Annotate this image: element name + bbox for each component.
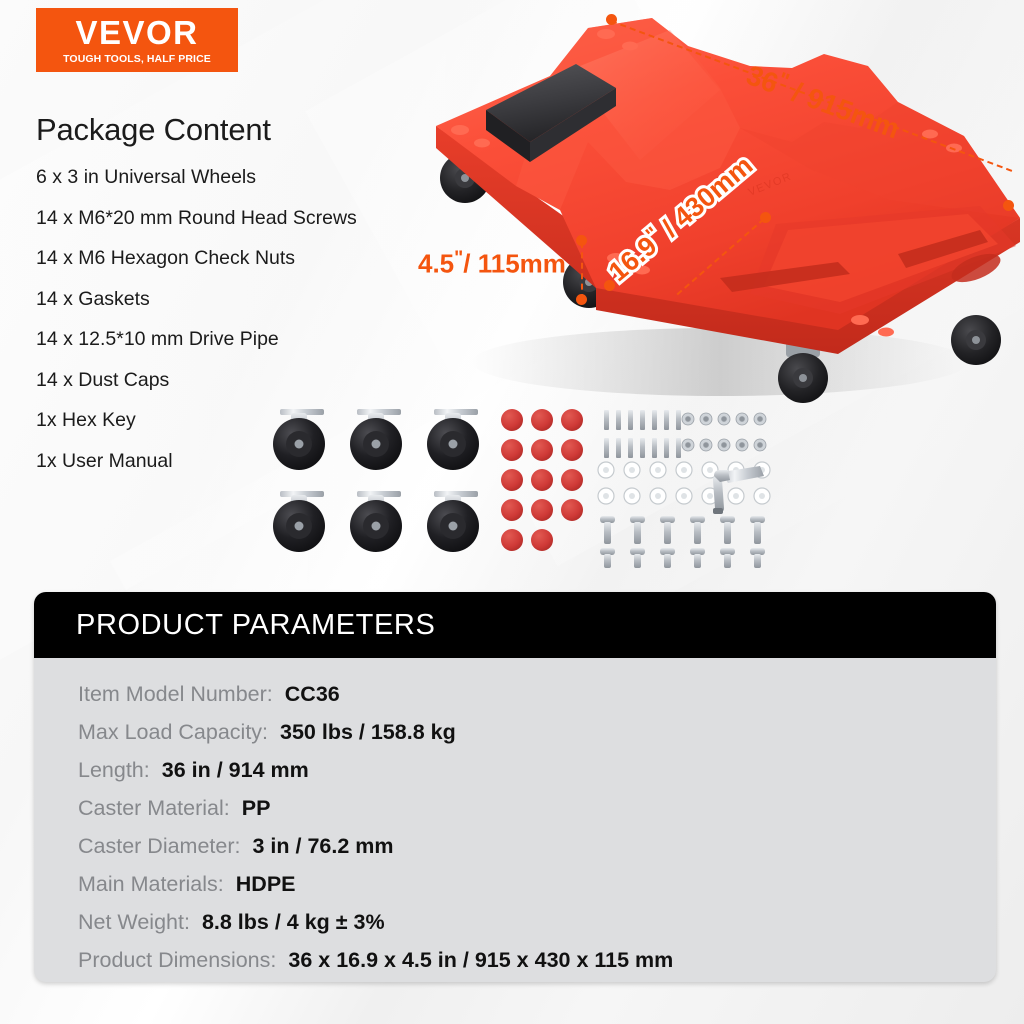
brand-tagline: TOUGH TOOLS, HALF PRICE (63, 54, 211, 65)
dim-length-start-dot (606, 14, 617, 25)
param-label: Caster Material: (78, 798, 230, 820)
list-item: 14 x M6*20 mm Round Head Screws (36, 209, 456, 229)
list-item: 14 x 12.5*10 mm Drive Pipe (36, 330, 456, 350)
param-label: Product Dimensions: (78, 950, 276, 972)
table-row: Caster Diameter: 3 in / 76.2 mm (78, 836, 996, 858)
table-row: Product Dimensions: 36 x 16.9 x 4.5 in /… (78, 950, 996, 972)
dim-height-label: 4.5"/ 115mm (418, 249, 566, 277)
table-row: Max Load Capacity: 350 lbs / 158.8 kg (78, 722, 996, 744)
dim-width-end-dot (604, 280, 615, 291)
dim-height-bottom-dot (576, 294, 587, 305)
list-item: 1x User Manual (36, 452, 456, 472)
table-row: Main Materials: HDPE (78, 874, 996, 896)
brand-wordmark: VEVOR (75, 16, 198, 49)
table-row: Caster Material: PP (78, 798, 996, 820)
param-value: 36 in / 914 mm (162, 760, 309, 782)
dim-width-start-dot (760, 212, 771, 223)
caster-item (273, 491, 325, 552)
param-label: Caster Diameter: (78, 836, 241, 858)
list-item: 6 x 3 in Universal Wheels (36, 168, 456, 188)
list-item: 14 x Gaskets (36, 290, 456, 310)
list-item: 1x Hex Key (36, 411, 456, 431)
dim-height-line (581, 242, 583, 300)
param-value: 3 in / 76.2 mm (253, 836, 394, 858)
param-label: Net Weight: (78, 912, 190, 934)
table-row: Length: 36 in / 914 mm (78, 760, 996, 782)
param-label: Max Load Capacity: (78, 722, 268, 744)
package-content-heading: Package Content (36, 112, 456, 148)
parameters-body: Item Model Number: CC36 Max Load Capacit… (34, 658, 996, 972)
product-photo: VEVOR (420, 10, 1024, 430)
package-content-section: Package Content 6 x 3 in Universal Wheel… (36, 112, 456, 492)
param-value: HDPE (236, 874, 296, 896)
vevor-logo: VEVOR TOUGH TOOLS, HALF PRICE (36, 8, 238, 72)
dim-height-top-dot (576, 235, 587, 246)
product-parameters-panel: PRODUCT PARAMETERS Item Model Number: CC… (34, 592, 996, 982)
table-row: Net Weight: 8.8 lbs / 4 kg ± 3% (78, 912, 996, 934)
infographic-page: VEVOR TOUGH TOOLS, HALF PRICE Package Co… (0, 0, 1024, 1024)
creeper-illustration: VEVOR (420, 10, 1024, 430)
param-label: Item Model Number: (78, 684, 273, 706)
screw-set (570, 516, 765, 568)
param-value: PP (242, 798, 271, 820)
param-value: 350 lbs / 158.8 kg (280, 722, 456, 744)
param-label: Main Materials: (78, 874, 224, 896)
drive-pipe-set (604, 410, 681, 458)
page-title: PRODUCT PARAMETERS (76, 609, 435, 642)
list-item: 14 x M6 Hexagon Check Nuts (36, 249, 456, 269)
param-value: 8.8 lbs / 4 kg ± 3% (202, 912, 385, 934)
dim-length-end-dot (1003, 200, 1014, 211)
caster-item (350, 491, 402, 552)
table-row: Item Model Number: CC36 (78, 684, 996, 706)
parameters-header: PRODUCT PARAMETERS (34, 592, 996, 658)
package-content-list: 6 x 3 in Universal Wheels 14 x M6*20 mm … (36, 168, 456, 471)
hex-nut-set (682, 413, 766, 451)
caster-item (427, 491, 479, 552)
param-value: CC36 (285, 684, 340, 706)
dust-cap-set (501, 409, 583, 551)
param-value: 36 x 16.9 x 4.5 in / 915 x 430 x 115 mm (288, 950, 673, 972)
list-item: 14 x Dust Caps (36, 371, 456, 391)
param-label: Length: (78, 760, 150, 782)
caster-wheel (951, 315, 1001, 365)
